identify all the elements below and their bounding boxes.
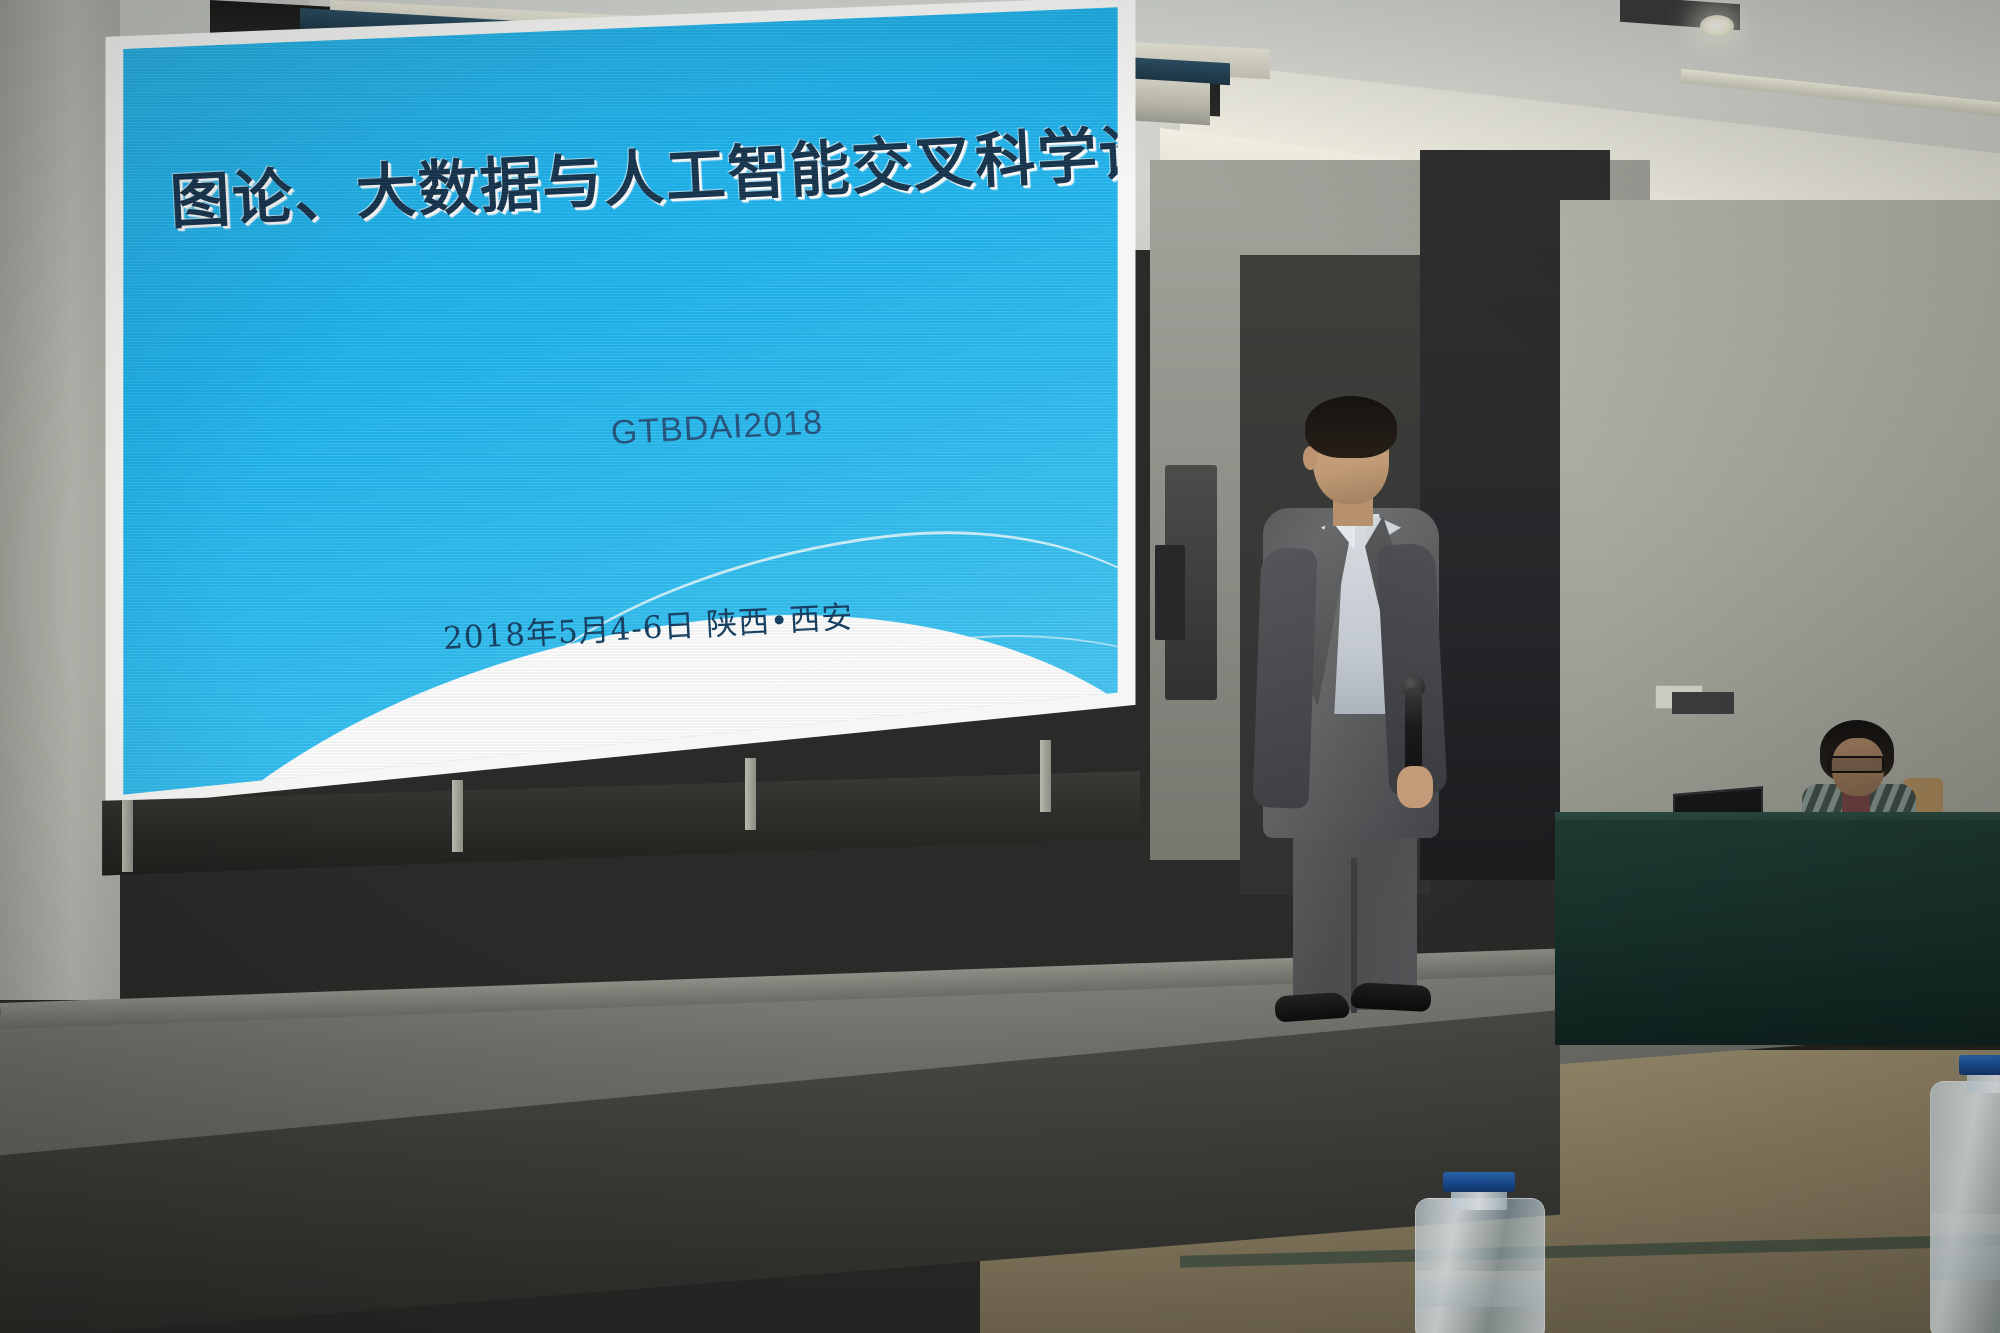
speaker-arm-left xyxy=(1252,547,1317,809)
bottle-label xyxy=(1931,1214,2000,1280)
ceiling-downlight xyxy=(1700,15,1734,37)
presentation-photo-scene: 图论、大数据与人工智能交叉科学论坛 GTBDAI2018 2018年5月4-6日… xyxy=(0,0,2000,1333)
screen-leg xyxy=(1040,740,1051,812)
bottle-body xyxy=(1415,1198,1545,1333)
wall-speaker-lower-icon xyxy=(1155,545,1185,640)
speaker-hair xyxy=(1305,396,1397,458)
slide-title: 图论、大数据与人工智能交叉科学论坛 xyxy=(167,101,1146,241)
bottle-label xyxy=(1416,1271,1544,1307)
screen-leg xyxy=(452,780,463,852)
screen-leg xyxy=(122,800,133,872)
wall-sign xyxy=(1672,692,1734,714)
table-cloth xyxy=(1555,820,2000,1045)
screen-leg xyxy=(745,758,756,830)
water-bottle-right xyxy=(1930,1055,2000,1333)
wall-left-column xyxy=(0,0,120,1000)
water-bottle-center xyxy=(1415,1172,1543,1333)
bottle-cap xyxy=(1959,1055,2000,1075)
speaker-shoe-left xyxy=(1274,991,1350,1022)
speaker-shoe-right xyxy=(1350,982,1431,1012)
slide-subtitle: GTBDAI2018 xyxy=(610,403,824,453)
bottle-body xyxy=(1930,1081,2000,1333)
eyeglasses-icon xyxy=(1828,756,1884,773)
speaker-figure xyxy=(1255,388,1455,1048)
speaker-hand xyxy=(1397,766,1433,808)
bottle-cap xyxy=(1443,1172,1515,1192)
